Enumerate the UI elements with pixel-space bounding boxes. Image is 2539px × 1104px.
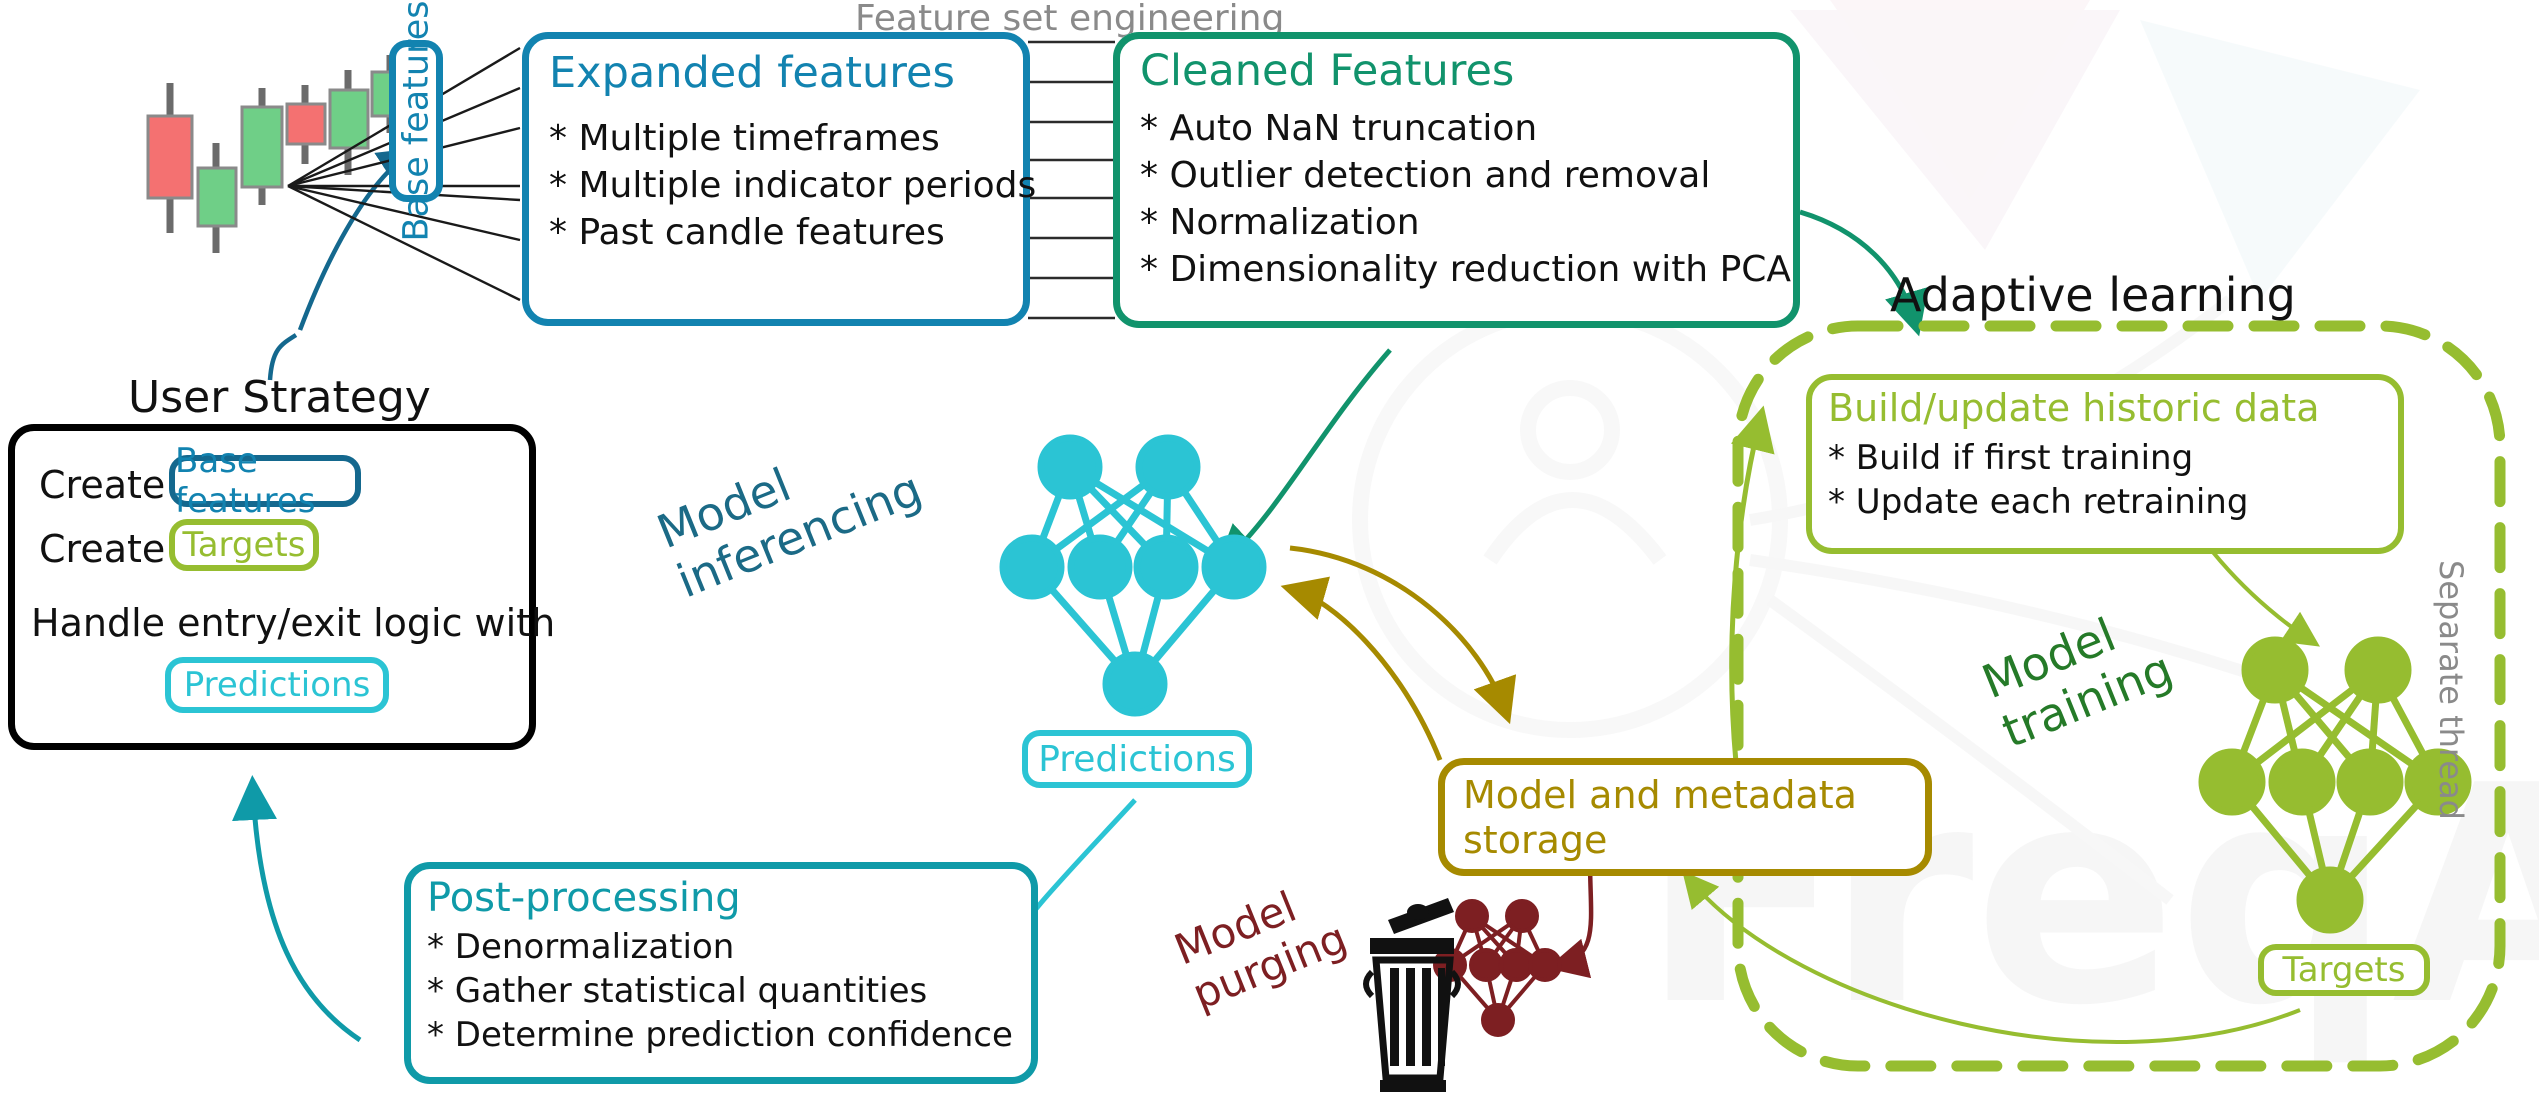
build-update-item: * Build if first training xyxy=(1828,436,2398,480)
create-base-features-label: Create xyxy=(39,463,165,507)
base-features-pill[interactable]: Base features xyxy=(389,40,443,202)
handle-entry-exit-label: Handle entry/exit logic with xyxy=(31,601,555,645)
predictions-pill-label: Predictions xyxy=(1038,739,1236,780)
base-features-pill-label: Base features xyxy=(396,1,436,242)
cleaned-features-item: * Auto NaN truncation xyxy=(1140,106,1793,153)
inference-neural-network xyxy=(1003,438,1263,713)
post-processing-box[interactable]: Post-processing * Denormalization * Gath… xyxy=(404,862,1038,1084)
adaptive-learning-label: Adaptive learning xyxy=(1890,268,2296,322)
targets-pill-label: Targets xyxy=(2283,950,2406,990)
build-update-item: * Update each retraining xyxy=(1828,480,2398,524)
cleaned-features-item: * Outlier detection and removal xyxy=(1140,153,1793,200)
trash-can-icon xyxy=(1366,898,1458,1092)
build-update-title: Build/update historic data xyxy=(1828,386,2398,430)
post-processing-item: * Denormalization xyxy=(427,925,1031,969)
post-processing-item: * Gather statistical quantities xyxy=(427,969,1031,1013)
strategy-predictions-pill[interactable]: Predictions xyxy=(165,657,389,713)
expanded-features-item: * Past candle features xyxy=(549,210,1023,257)
expanded-features-title: Expanded features xyxy=(549,51,1023,96)
user-strategy-box[interactable]: Create Base features Create Targets Hand… xyxy=(8,424,536,750)
strategy-predictions-label: Predictions xyxy=(184,665,371,705)
strategy-targets-label: Targets xyxy=(183,525,306,565)
candlestick-chart xyxy=(148,55,410,253)
diagram-canvas: FreqAI xyxy=(0,0,2539,1104)
user-strategy-title: User Strategy xyxy=(128,372,431,423)
strategy-targets-pill[interactable]: Targets xyxy=(169,519,319,571)
cleaned-features-box-frame[interactable]: Cleaned Features * Auto NaN truncation *… xyxy=(1113,32,1800,328)
expanded-features-item: * Multiple indicator periods xyxy=(549,163,1023,210)
cleaned-features-item: * Normalization xyxy=(1140,200,1793,247)
build-update-historic-data-box[interactable]: Build/update historic data * Build if fi… xyxy=(1806,374,2404,554)
ladder-expanded-to-cleaned xyxy=(1028,42,1115,318)
post-processing-item: * Determine prediction confidence xyxy=(427,1013,1031,1057)
purged-neural-network xyxy=(1435,901,1560,1035)
targets-pill[interactable]: Targets xyxy=(2258,944,2430,996)
storage-line2: storage xyxy=(1463,818,1925,863)
predictions-pill[interactable]: Predictions xyxy=(1022,730,1252,788)
cleaned-features-title: Cleaned Features xyxy=(1140,49,1793,94)
post-processing-title: Post-processing xyxy=(427,877,1031,919)
strategy-base-features-pill[interactable]: Base features xyxy=(169,455,361,507)
strategy-base-features-label: Base features xyxy=(175,441,355,521)
model-metadata-storage-box[interactable]: Model and metadata storage xyxy=(1438,758,1932,876)
expanded-features-item: * Multiple timeframes xyxy=(549,116,1023,163)
expanded-features-box[interactable]: Expanded features * Multiple timeframes … xyxy=(522,32,1030,326)
storage-line1: Model and metadata xyxy=(1463,773,1925,818)
separate-thread-label: Separate thread xyxy=(2432,560,2470,820)
cleaned-features-item: * Dimensionality reduction with PCA xyxy=(1140,247,1793,294)
create-targets-label: Create xyxy=(39,527,165,571)
arrow-postprocessing-to-strategy xyxy=(253,790,360,1040)
